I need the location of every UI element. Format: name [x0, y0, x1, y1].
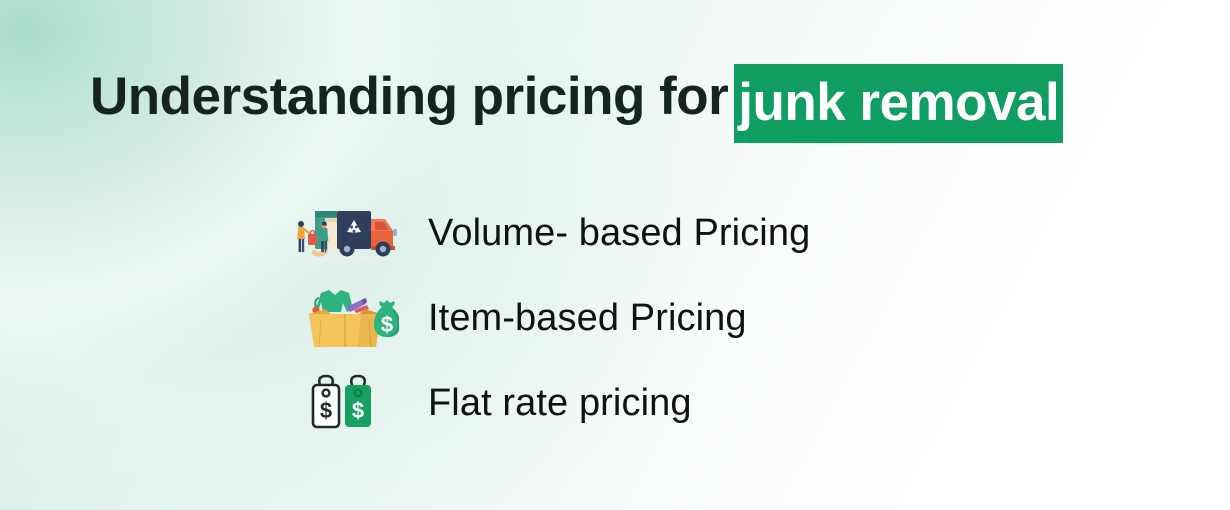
banner-canvas: Understanding pricing for junk removal	[0, 0, 1230, 510]
page-title-highlighted-text: junk removal	[734, 64, 1063, 143]
list-item: Volume- based Pricing	[286, 190, 810, 275]
list-item-label: Volume- based Pricing	[428, 214, 810, 252]
pricing-model-list: Volume- based Pricing	[286, 190, 810, 445]
box-with-money-bag-icon: $	[286, 285, 404, 351]
page-title: Understanding pricing for junk removal	[90, 58, 1063, 137]
svg-text:$: $	[381, 312, 393, 337]
svg-text:$: $	[352, 398, 364, 423]
list-item: $ $ Flat rate pricing	[286, 360, 810, 445]
recycling-truck-icon	[286, 200, 404, 266]
list-item-label: Flat rate pricing	[428, 384, 692, 422]
svg-text:$: $	[320, 398, 332, 423]
list-item: $ Item-based Pricing	[286, 275, 810, 360]
list-item-label: Item-based Pricing	[428, 299, 747, 337]
page-title-plain-text: Understanding pricing for	[90, 70, 728, 123]
price-tags-icon: $ $	[286, 370, 404, 436]
